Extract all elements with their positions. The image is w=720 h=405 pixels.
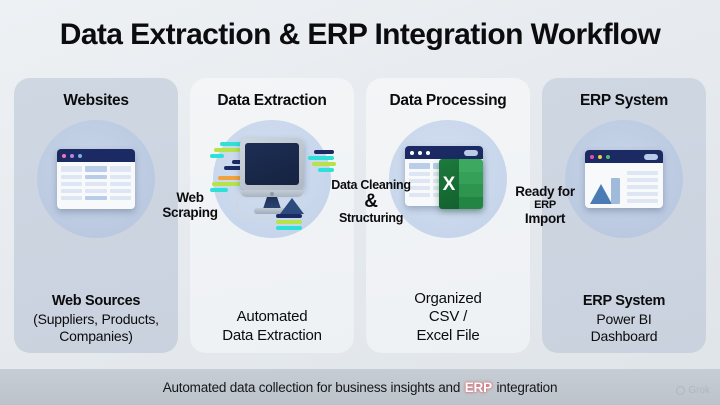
connector-label-ready-for-erp: Ready for ERP Import bbox=[505, 184, 585, 227]
caption-strong: Automated bbox=[190, 308, 354, 326]
page-title: Data Extraction & ERP Integration Workfl… bbox=[0, 18, 720, 52]
window-dot-icon bbox=[78, 154, 82, 158]
caption-line2: (Suppliers, Products, bbox=[14, 311, 178, 328]
icon-plate-data-extraction bbox=[213, 120, 331, 238]
monitor-screen bbox=[245, 143, 299, 185]
window-titlebar bbox=[405, 146, 483, 159]
monitor-chin bbox=[240, 190, 304, 197]
connector-line3: Structuring bbox=[325, 211, 417, 225]
panel-caption-data-processing: Organized CSV / Excel File bbox=[366, 290, 530, 345]
browser-window-icon bbox=[57, 149, 135, 209]
window-content bbox=[57, 162, 135, 209]
caption-strong: ERP System bbox=[542, 293, 706, 311]
window-dot-icon bbox=[598, 155, 602, 159]
grok-logo-icon bbox=[676, 386, 685, 395]
chart-mountain-icon bbox=[590, 184, 612, 204]
panel-heading-data-extraction: Data Extraction bbox=[217, 92, 326, 110]
panel-websites[interactable]: Websites bbox=[14, 78, 178, 353]
grok-watermark: Grok bbox=[676, 385, 710, 396]
caption-line2: Data Extraction bbox=[190, 327, 354, 345]
dashboard-content bbox=[585, 163, 663, 208]
window-dot-icon bbox=[410, 151, 414, 155]
excel-spreadsheet-icon: X bbox=[405, 146, 491, 212]
caption-strong: Web Sources bbox=[14, 293, 178, 311]
window-dot-icon bbox=[606, 155, 610, 159]
monitor-bezel bbox=[240, 138, 304, 190]
connector-label-web-scraping: Web Scraping bbox=[155, 190, 225, 220]
window-pill-icon bbox=[464, 150, 478, 156]
window-dot-icon bbox=[62, 154, 66, 158]
chart-bar-icon bbox=[611, 178, 620, 204]
excel-logo-icon: X bbox=[439, 159, 483, 209]
window-dot-icon bbox=[590, 155, 594, 159]
connector-line2: Scraping bbox=[155, 205, 225, 220]
panel-caption-websites: Web Sources (Suppliers, Products, Compan… bbox=[14, 293, 178, 345]
caption-line3: Dashboard bbox=[542, 328, 706, 345]
panel-heading-erp-system: ERP System bbox=[580, 92, 668, 110]
panel-caption-data-extraction: Automated Data Extraction bbox=[190, 308, 354, 345]
caption-line3: Companies) bbox=[14, 328, 178, 345]
monitor-cable bbox=[236, 202, 270, 220]
data-stream-bottom-icon bbox=[276, 214, 302, 230]
window-titlebar bbox=[585, 150, 663, 163]
footer-erp-highlight: ERP bbox=[464, 380, 493, 395]
panel-caption-erp-system: ERP System Power BI Dashboard bbox=[542, 293, 706, 345]
connector-line2: ERP bbox=[505, 199, 585, 211]
window-pill-icon bbox=[644, 154, 658, 160]
caption-line2: CSV / bbox=[366, 308, 530, 326]
connector-line1: Data Cleaning bbox=[325, 178, 417, 192]
desktop-monitor-icon bbox=[226, 136, 318, 222]
connector-line1: Web bbox=[155, 190, 225, 205]
panel-heading-data-processing: Data Processing bbox=[390, 92, 507, 110]
data-stream-left-icon bbox=[210, 142, 242, 158]
dashboard-text-lines bbox=[627, 171, 658, 204]
caption-line2: Power BI bbox=[542, 311, 706, 328]
icon-plate-websites bbox=[37, 120, 155, 238]
data-stream-right-icon bbox=[308, 150, 336, 172]
connector-label-data-cleaning: Data Cleaning & Structuring bbox=[325, 178, 417, 225]
footer-text-before: Automated data collection for business i… bbox=[163, 380, 464, 395]
window-dot-icon bbox=[418, 151, 422, 155]
excel-x-glyph: X bbox=[439, 159, 459, 209]
caption-strong: Organized bbox=[366, 290, 530, 308]
window-dot-icon bbox=[70, 154, 74, 158]
window-titlebar bbox=[57, 149, 135, 162]
window-dot-icon bbox=[426, 151, 430, 155]
watermark-label: Grok bbox=[688, 385, 710, 396]
dashboard-chart-icon bbox=[585, 150, 663, 208]
footer-bar: Automated data collection for business i… bbox=[0, 369, 720, 405]
connector-line1: Ready for bbox=[505, 184, 585, 199]
connector-ampersand: & bbox=[325, 192, 417, 211]
chart-graphic-icon bbox=[590, 178, 622, 204]
footer-text: Automated data collection for business i… bbox=[163, 380, 558, 395]
excel-green-panel bbox=[459, 159, 483, 209]
caption-line3: Excel File bbox=[366, 327, 530, 345]
connector-line3: Import bbox=[505, 211, 585, 226]
panel-heading-websites: Websites bbox=[63, 92, 128, 110]
footer-text-after: integration bbox=[493, 380, 557, 395]
triangle-marker-icon bbox=[280, 198, 304, 214]
